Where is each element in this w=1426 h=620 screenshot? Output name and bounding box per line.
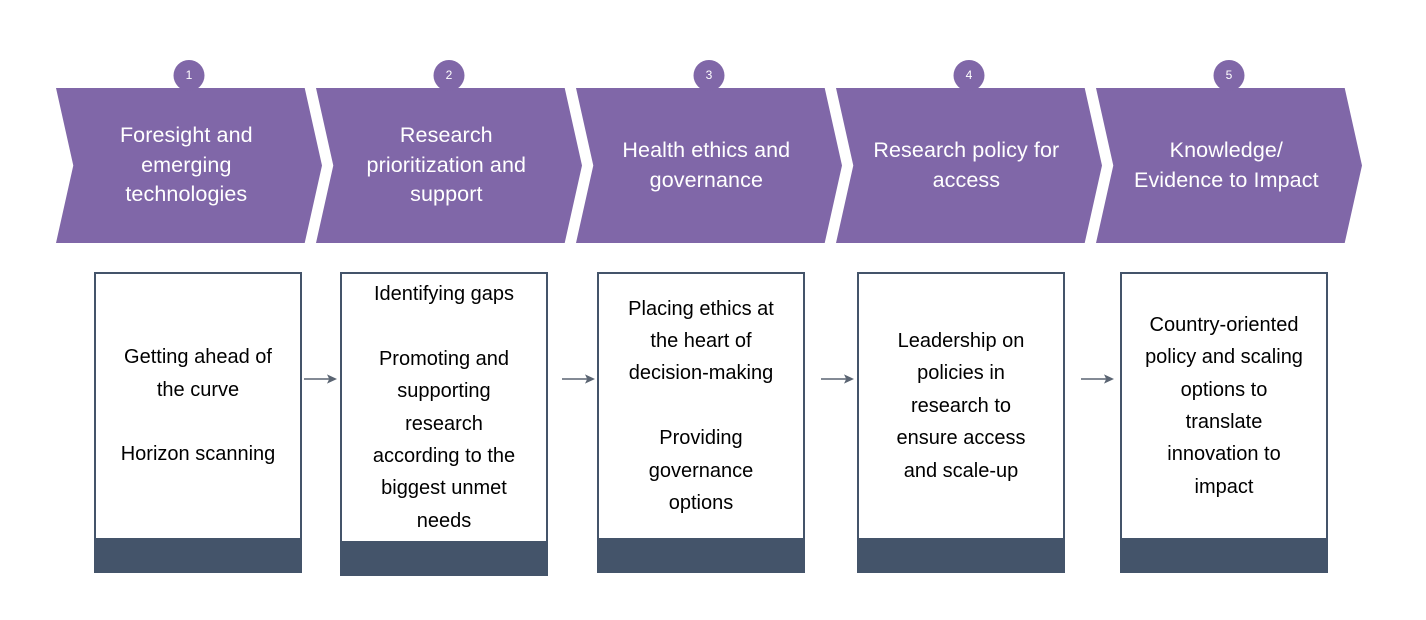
- chevron-stage-row: 1 Foresight and emerging technologies 2 …: [0, 60, 1426, 250]
- stage-5[interactable]: 5 Knowledge/ Evidence to Impact: [1096, 60, 1362, 250]
- detail-box-4[interactable]: Leadership on policies in research to en…: [857, 272, 1065, 573]
- detail-box-body-3: Placing ethics at the heart of decision-…: [599, 274, 803, 538]
- stage-4[interactable]: 4 Research policy for access: [836, 60, 1102, 250]
- detail-box-text-3: Placing ethics at the heart of decision-…: [628, 293, 774, 520]
- detail-box-body-1: Getting ahead of the curve Horizon scann…: [96, 274, 300, 538]
- chevron-5: Knowledge/ Evidence to Impact: [1096, 88, 1362, 243]
- detail-box-row: Getting ahead of the curve Horizon scann…: [0, 272, 1426, 577]
- stage-number-badge-1: 1: [174, 60, 205, 91]
- chevron-1: Foresight and emerging technologies: [56, 88, 322, 243]
- stage-1[interactable]: 1 Foresight and emerging technologies: [56, 60, 322, 250]
- detail-box-footer-2: [340, 541, 548, 576]
- chevron-shape-5: [1096, 88, 1362, 243]
- chevron-3: Health ethics and governance: [576, 88, 842, 243]
- detail-box-text-1: Getting ahead of the curve Horizon scann…: [121, 341, 276, 471]
- detail-box-body-5: Country-oriented policy and scaling opti…: [1122, 274, 1326, 538]
- stage-number-badge-5: 5: [1214, 60, 1245, 91]
- chevron-shape-3: [576, 88, 842, 243]
- process-flow-diagram: 1 Foresight and emerging technologies 2 …: [0, 0, 1426, 620]
- chevron-4: Research policy for access: [836, 88, 1102, 243]
- detail-box-2[interactable]: Identifying gaps Promoting and supportin…: [340, 272, 548, 573]
- detail-box-3[interactable]: Placing ethics at the heart of decision-…: [597, 272, 805, 573]
- stage-number-badge-3: 3: [694, 60, 725, 91]
- detail-box-footer-3: [597, 538, 805, 573]
- chevron-shape-2: [316, 88, 582, 243]
- arrow-1-to-2-icon: [304, 371, 338, 387]
- chevron-2: Research prioritization and support: [316, 88, 582, 243]
- stage-2[interactable]: 2 Research prioritization and support: [316, 60, 582, 250]
- stage-3[interactable]: 3 Health ethics and governance: [576, 60, 842, 250]
- arrow-3-to-4-icon: [821, 371, 855, 387]
- detail-box-body-4: Leadership on policies in research to en…: [859, 274, 1063, 538]
- detail-box-text-4: Leadership on policies in research to en…: [897, 325, 1026, 487]
- chevron-shape-4: [836, 88, 1102, 243]
- detail-box-text-2: Identifying gaps Promoting and supportin…: [373, 278, 515, 537]
- detail-box-footer-5: [1120, 538, 1328, 573]
- detail-box-body-2: Identifying gaps Promoting and supportin…: [342, 274, 546, 541]
- detail-box-footer-1: [94, 538, 302, 573]
- detail-box-5[interactable]: Country-oriented policy and scaling opti…: [1120, 272, 1328, 573]
- stage-number-badge-4: 4: [954, 60, 985, 91]
- detail-box-text-5: Country-oriented policy and scaling opti…: [1145, 309, 1303, 503]
- chevron-shape-1: [56, 88, 322, 243]
- arrow-2-to-3-icon: [562, 371, 596, 387]
- detail-box-footer-4: [857, 538, 1065, 573]
- stage-number-badge-2: 2: [434, 60, 465, 91]
- detail-box-1[interactable]: Getting ahead of the curve Horizon scann…: [94, 272, 302, 573]
- arrow-4-to-5-icon: [1081, 371, 1115, 387]
